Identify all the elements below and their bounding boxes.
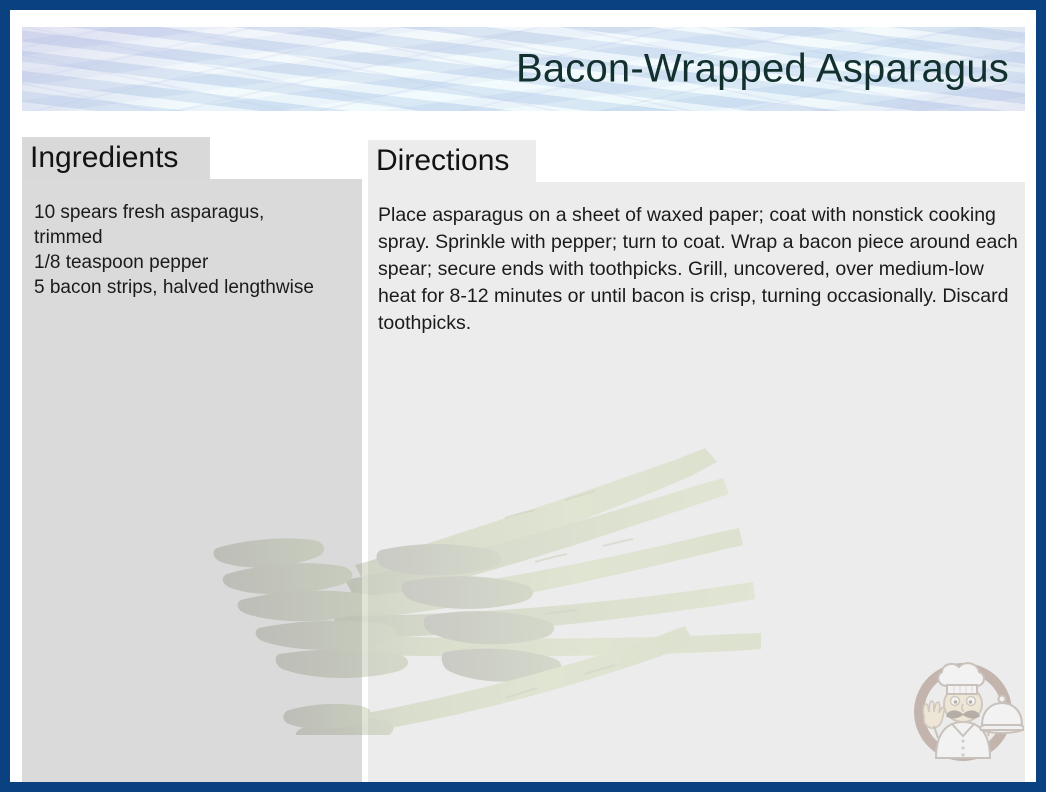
directions-text: Place asparagus on a sheet of waxed pape…: [378, 202, 1018, 337]
directions-heading-tab: Directions: [368, 140, 536, 182]
recipe-slide: Bacon-Wrapped Asparagus: [0, 0, 1046, 792]
page-title: Bacon-Wrapped Asparagus: [516, 47, 1009, 92]
ingredients-heading-tab: Ingredients: [22, 137, 210, 179]
ingredients-list: 10 spears fresh asparagus, trimmed 1/8 t…: [34, 200, 360, 300]
slide-content-area: Bacon-Wrapped Asparagus: [10, 10, 1036, 782]
title-banner: Bacon-Wrapped Asparagus: [22, 27, 1025, 111]
directions-heading-label: Directions: [376, 146, 509, 176]
ingredients-heading-label: Ingredients: [30, 143, 178, 173]
